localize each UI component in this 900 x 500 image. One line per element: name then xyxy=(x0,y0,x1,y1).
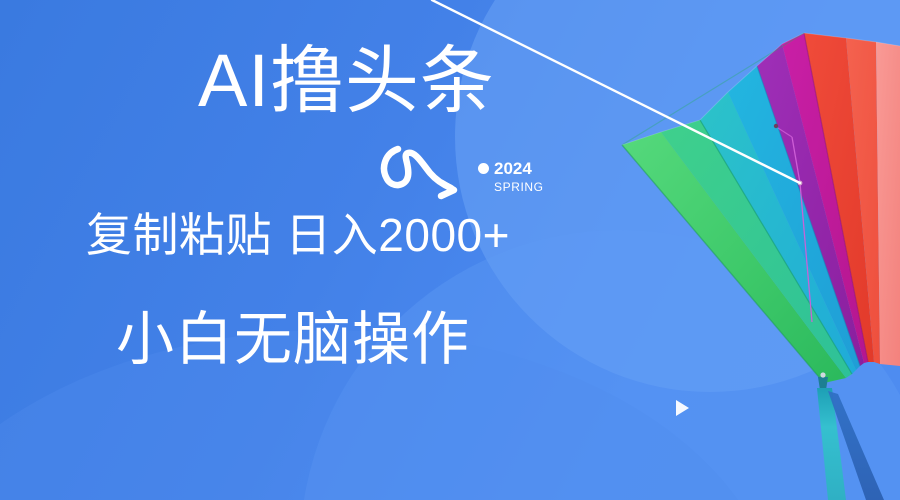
badge-top-row: 2024 xyxy=(478,160,544,177)
filled-circle-icon xyxy=(478,163,489,174)
badge-year: 2024 xyxy=(494,160,532,177)
page-title: AI撸头条 xyxy=(198,44,495,118)
poster-canvas: AI撸头条 复制粘贴 日入2000+ 小白无脑操作 2024 SPRING xyxy=(0,0,900,500)
subtitle-line-one: 复制粘贴 日入2000+ xyxy=(86,212,510,258)
play-triangle-icon xyxy=(676,400,689,416)
curly-arrow-icon xyxy=(378,143,474,205)
badge-season: SPRING xyxy=(494,181,544,193)
season-badge: 2024 SPRING xyxy=(478,160,544,193)
subtitle-line-two: 小白无脑操作 xyxy=(116,311,470,369)
